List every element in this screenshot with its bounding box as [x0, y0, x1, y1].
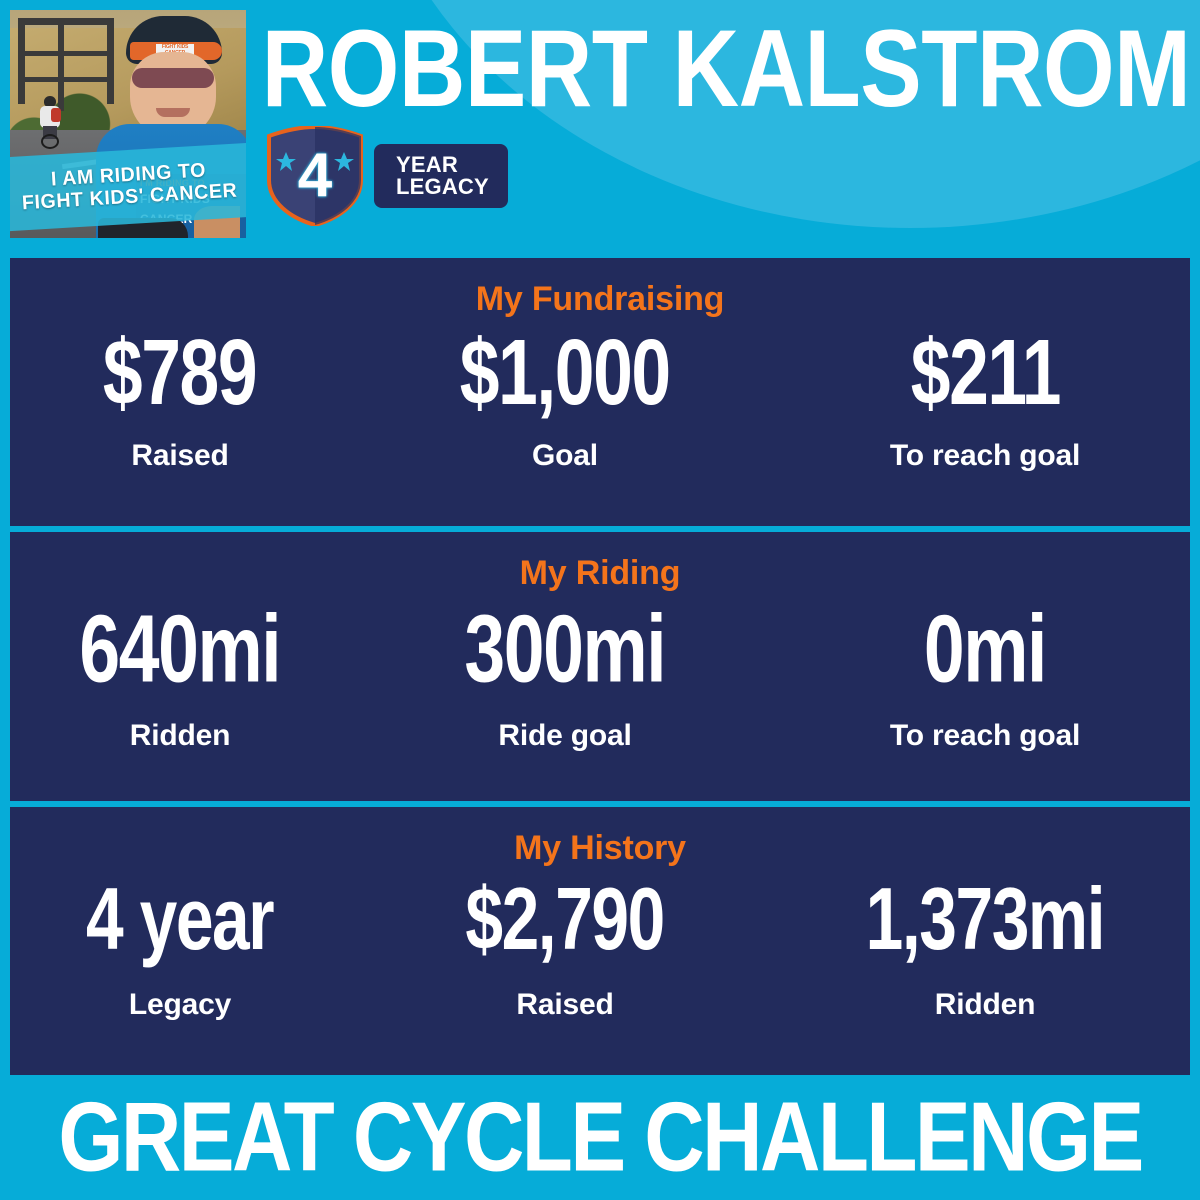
- stat-label: Ridden: [935, 988, 1035, 1022]
- stat-value: $789: [103, 327, 256, 420]
- stat-to-reach-ride-goal: 0mi To reach goal: [780, 601, 1190, 753]
- header-banner: FIGHT KIDS CANCER I'M RIDING TO FIGHT KI…: [0, 0, 1200, 258]
- stat-raised: $789 Raised: [10, 327, 350, 473]
- stat-label: Raised: [516, 988, 613, 1022]
- stats-panel: My Fundraising $789 Raised $1,000 Goal $…: [10, 258, 1190, 1075]
- photo-sunglasses: [132, 68, 214, 88]
- stats-row-riding: 640mi Ridden 300mi Ride goal 0mi To reac…: [10, 593, 1190, 800]
- stat-label: To reach goal: [890, 439, 1080, 473]
- stat-label: Legacy: [129, 988, 231, 1022]
- stat-value: 640mi: [80, 601, 281, 696]
- stat-ridden: 640mi Ridden: [10, 601, 350, 753]
- page-title: ROBERT KALSTROM: [263, 0, 1190, 139]
- stat-value: $1,000: [460, 327, 670, 420]
- stat-label: Ride goal: [498, 719, 631, 753]
- stat-value: 0mi: [924, 601, 1046, 696]
- stat-label: Goal: [532, 439, 598, 473]
- stat-label: To reach goal: [890, 719, 1080, 753]
- stat-value: 300mi: [465, 601, 666, 696]
- footer-banner: GREAT CYCLE CHALLENGE: [0, 1075, 1200, 1200]
- legacy-badge-number: 4: [264, 128, 366, 228]
- rider-photo: FIGHT KIDS CANCER I'M RIDING TO FIGHT KI…: [10, 10, 246, 238]
- legacy-badge-plate: YEAR LEGACY: [374, 144, 508, 208]
- section-fundraising: My Fundraising $789 Raised $1,000 Goal $…: [10, 258, 1190, 526]
- stat-label: Raised: [131, 439, 228, 473]
- stat-total-ridden: 1,373mi Ridden: [780, 876, 1190, 1022]
- stats-row-fundraising: $789 Raised $1,000 Goal $211 To reach go…: [10, 319, 1190, 526]
- stat-goal: $1,000 Goal: [350, 327, 780, 473]
- stat-value: 1,373mi: [866, 876, 1104, 964]
- legacy-badge: YEAR LEGACY 4: [264, 128, 504, 228]
- photo-mouth: [156, 108, 190, 117]
- stat-value: 4 year: [86, 876, 273, 964]
- stats-row-history: 4 year Legacy $2,790 Raised 1,373mi Ridd…: [10, 868, 1190, 1075]
- legacy-badge-line2: LEGACY: [396, 176, 508, 198]
- stat-total-raised: $2,790 Raised: [350, 876, 780, 1022]
- stat-ride-goal: 300mi Ride goal: [350, 601, 780, 753]
- section-title-history: My History: [514, 829, 686, 868]
- section-history: My History 4 year Legacy $2,790 Raised 1…: [10, 807, 1190, 1075]
- stat-value: $2,790: [466, 876, 665, 964]
- legacy-badge-line1: YEAR: [396, 154, 508, 176]
- photo-overlay-banner: I AM RIDING TO FIGHT KIDS' CANCER: [10, 142, 246, 231]
- section-riding: My Riding 640mi Ridden 300mi Ride goal 0…: [10, 532, 1190, 800]
- stat-label: Ridden: [130, 719, 230, 753]
- photo-background-cyclist: [38, 96, 62, 148]
- stat-value: $211: [910, 327, 1059, 420]
- section-title-fundraising: My Fundraising: [476, 280, 724, 319]
- stat-legacy: 4 year Legacy: [10, 876, 350, 1022]
- stat-to-reach-goal: $211 To reach goal: [780, 327, 1190, 473]
- brand-logo-text: GREAT CYCLE CHALLENGE: [58, 1081, 1141, 1194]
- section-title-riding: My Riding: [520, 554, 681, 593]
